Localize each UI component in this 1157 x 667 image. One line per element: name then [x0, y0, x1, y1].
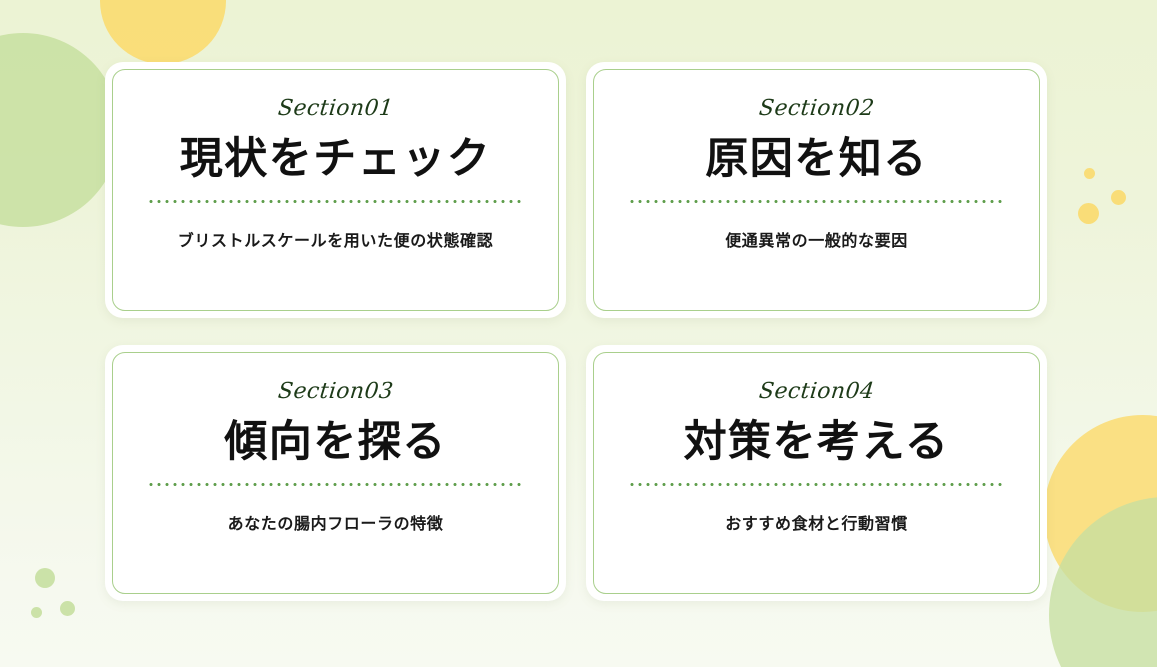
slide-canvas: Section01 現状をチェック ブリストルスケールを用いた便の状態確認 Se… [0, 0, 1157, 667]
dotted-divider [628, 483, 1005, 486]
yellow-dot-icon [1078, 203, 1099, 224]
section-subtitle: おすすめ食材と行動習慣 [725, 510, 908, 534]
yellow-dot-icon [1084, 168, 1095, 179]
section-number-label: Section04 [758, 381, 876, 403]
dotted-divider [147, 200, 524, 203]
section-card-frame: Section02 原因を知る 便通異常の一般的な要因 [593, 69, 1040, 311]
yellow-circle-top-left-icon [100, 0, 226, 64]
section-card-frame: Section04 対策を考える おすすめ食材と行動習慣 [593, 352, 1040, 594]
dotted-divider [628, 200, 1005, 203]
green-circle-bottom-right-icon [1049, 497, 1157, 667]
green-dot-icon [60, 601, 75, 616]
section-card[interactable]: Section01 現状をチェック ブリストルスケールを用いた便の状態確認 [105, 62, 566, 318]
section-card[interactable]: Section02 原因を知る 便通異常の一般的な要因 [586, 62, 1047, 318]
section-title: 原因を知る [705, 136, 928, 182]
green-dot-icon [35, 568, 55, 588]
section-subtitle: あなたの腸内フローラの特徴 [228, 510, 444, 534]
green-dot-icon [31, 607, 42, 618]
section-subtitle: 便通異常の一般的な要因 [725, 227, 908, 251]
section-card-frame: Section03 傾向を探る あなたの腸内フローラの特徴 [112, 352, 559, 594]
section-number-label: Section03 [277, 381, 395, 403]
section-number-label: Section01 [277, 98, 395, 120]
section-card-grid: Section01 現状をチェック ブリストルスケールを用いた便の状態確認 Se… [105, 62, 1047, 601]
section-title: 現状をチェック [180, 136, 492, 182]
yellow-circle-bottom-right-icon [1044, 415, 1157, 612]
section-number-label: Section02 [758, 98, 876, 120]
yellow-dot-icon [1111, 190, 1126, 205]
section-title: 傾向を探る [224, 419, 447, 465]
section-card[interactable]: Section04 対策を考える おすすめ食材と行動習慣 [586, 345, 1047, 601]
section-card-frame: Section01 現状をチェック ブリストルスケールを用いた便の状態確認 [112, 69, 559, 311]
green-circle-top-left-icon [0, 33, 120, 227]
section-subtitle: ブリストルスケールを用いた便の状態確認 [178, 227, 493, 251]
dotted-divider [147, 483, 524, 486]
section-title: 対策を考える [684, 419, 950, 465]
section-card[interactable]: Section03 傾向を探る あなたの腸内フローラの特徴 [105, 345, 566, 601]
